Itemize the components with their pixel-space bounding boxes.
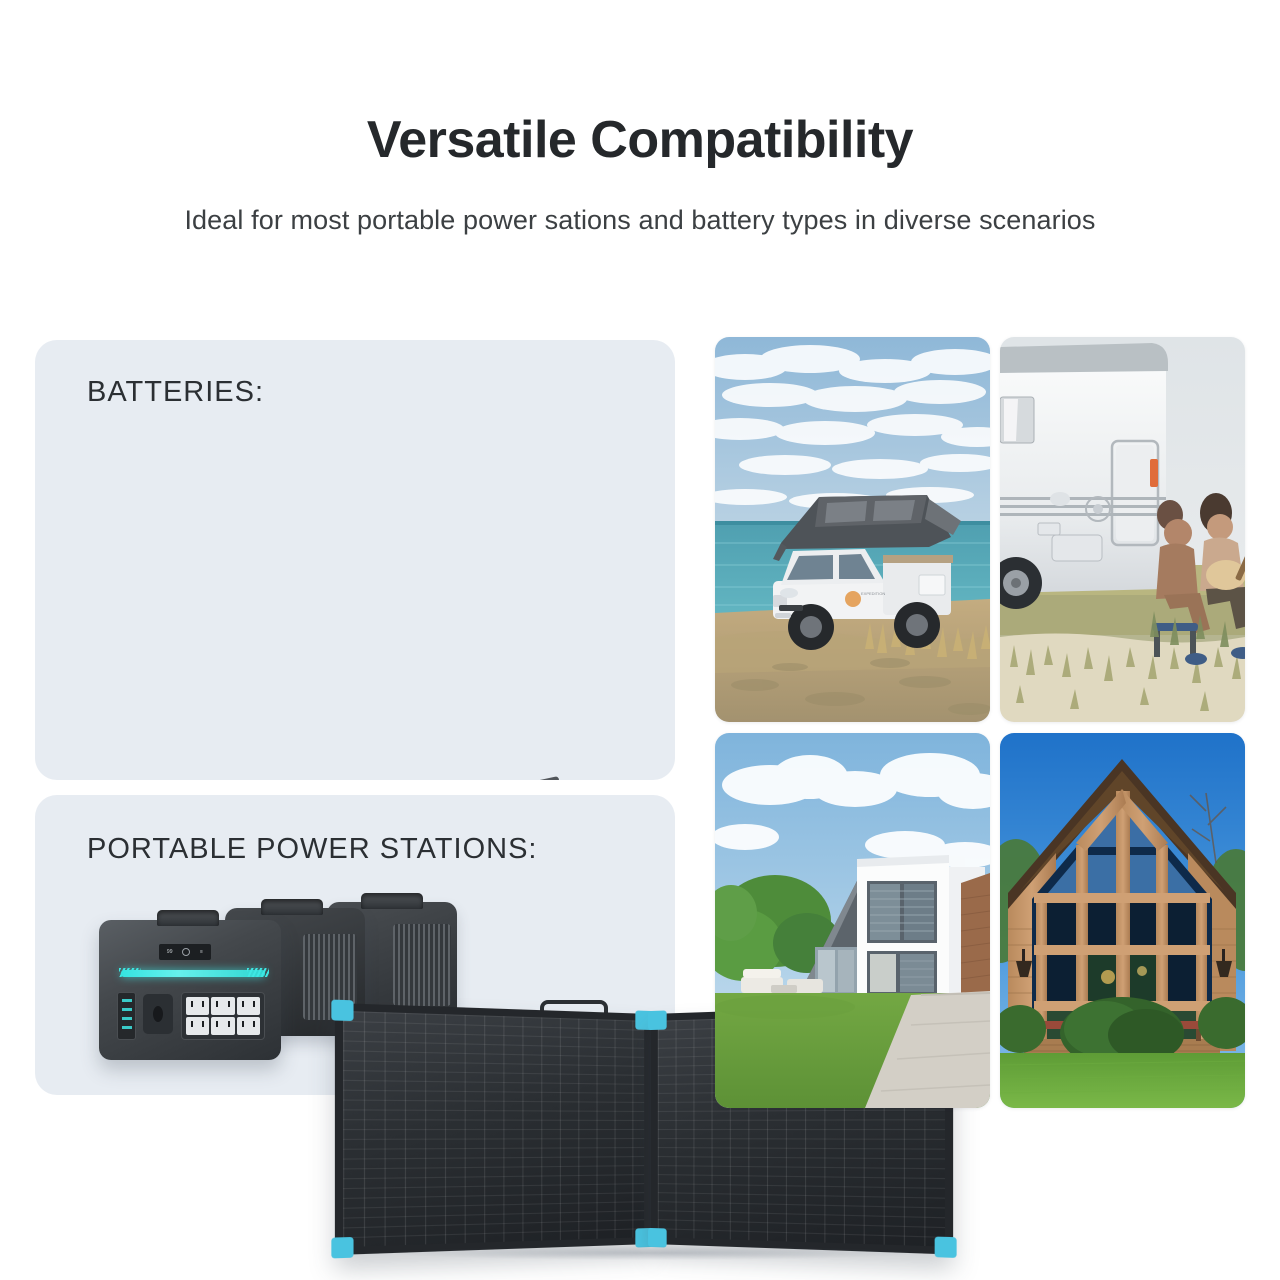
solar-panel-left-wing [335,1003,651,1255]
power-station-dc-port-panel[interactable] [117,992,136,1040]
display-battery-icon [182,948,190,956]
power-station-led-strip [121,970,265,977]
power-station-middle-handle [261,899,323,915]
ac-outlet[interactable] [186,997,209,1015]
power-station-rear-handle [361,893,423,909]
solar-corner-protector [935,1237,957,1258]
svg-text:EXPEDITION: EXPEDITION [861,591,885,596]
ac-outlet[interactable] [237,997,260,1015]
power-stations-card-label: PORTABLE POWER STATIONS: [87,833,537,866]
batteries-card-label: BATTERIES: [87,376,264,409]
power-station-led-right [247,968,269,977]
display-status-icon: ≡ [200,949,203,955]
photo-pickup-truck-rooftop-tent-beach: EXPEDITION [715,337,990,722]
solar-corner-protector [331,1000,353,1022]
ac-outlet[interactable] [211,997,234,1015]
batteries-card: BATTERIES: RENOGY SMART LITHIUM IRON PHO… [35,340,675,780]
photo-modern-white-house [715,733,990,1108]
page-title: Versatile Compatibility [0,112,1280,169]
solar-panel-left-surface [335,1003,651,1255]
solar-corner-protector [331,1237,353,1259]
power-station-front: 99 ≡ [99,920,281,1060]
power-station-display: 99 ≡ [159,944,211,960]
power-station-round-port[interactable] [143,994,173,1034]
header: Versatile Compatibility Ideal for most p… [0,0,1280,236]
ac-outlet[interactable] [237,1017,260,1035]
solar-corner-protector [648,1010,667,1030]
photo-rv-campers-with-guitar [1000,337,1245,722]
power-station-rear-vent [393,924,451,1006]
ac-outlet[interactable] [186,1017,209,1035]
photo-a-frame-wooden-cabin [1000,733,1245,1108]
solar-panel-shadow [395,1246,915,1260]
ac-outlet[interactable] [211,1017,234,1035]
power-station-ac-outlets[interactable] [181,992,265,1040]
power-station-front-handle [157,910,219,926]
display-wattage-icon: 99 [167,949,173,955]
solar-corner-protector [648,1228,667,1248]
infographic-page: Versatile Compatibility Ideal for most p… [0,0,1280,1280]
page-subtitle: Ideal for most portable power sations an… [0,205,1280,236]
